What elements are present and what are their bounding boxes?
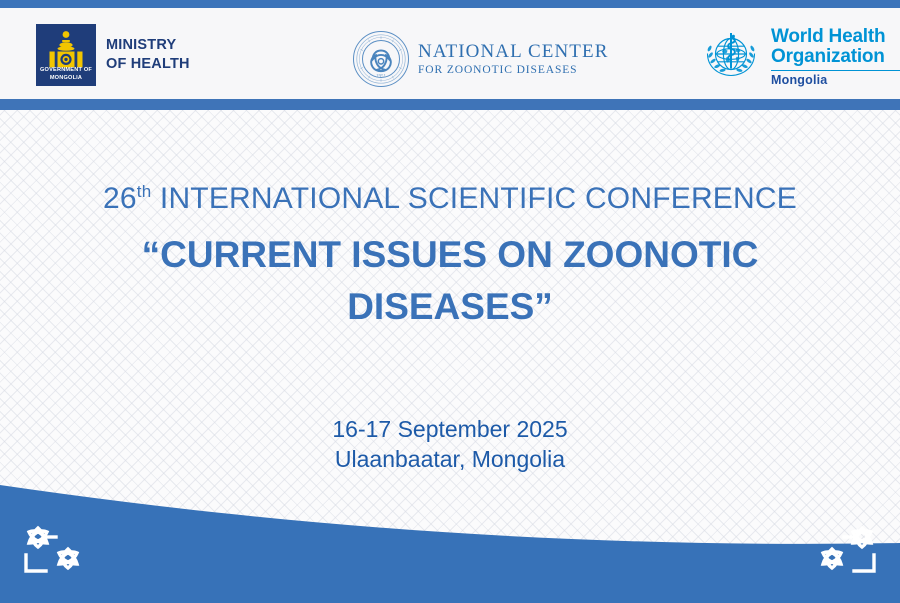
seal-year: 1951	[376, 75, 387, 80]
logo-world-health-organization: World Health Organization Mongolia	[700, 26, 900, 88]
top-accent-band	[0, 0, 900, 8]
footer-wave-fill	[0, 485, 900, 603]
emblem-caption: GOVERNMENT OF MONGOLIA	[36, 67, 96, 82]
conference-theme-line2: DISEASES”	[0, 281, 900, 333]
conference-heading: 26th INTERNATIONAL SCIENTIFIC CONFERENCE	[0, 172, 900, 219]
logo-row: GOVERNMENT OF MONGOLIA MINISTRY OF HEALT…	[0, 8, 900, 99]
ministry-label-line1: MINISTRY	[106, 36, 190, 55]
conference-title-slide: GOVERNMENT OF MONGOLIA MINISTRY OF HEALT…	[0, 0, 900, 603]
who-divider-rule	[771, 70, 900, 72]
nczd-label-line2: FOR ZOONOTIC DISEASES	[418, 64, 608, 76]
nczd-label-line1: NATIONAL CENTER	[418, 42, 608, 62]
title-block: 26th INTERNATIONAL SCIENTIFIC CONFERENCE…	[0, 172, 900, 333]
who-label-line2: Organization	[771, 47, 900, 67]
logo-ministry-of-health: GOVERNMENT OF MONGOLIA MINISTRY OF HEALT…	[36, 24, 190, 86]
logo-national-center-zoonotic-diseases: 1951 NATIONAL CENTER FOR ZOONOTIC DISEAS…	[352, 30, 608, 88]
who-country-label: Mongolia	[771, 73, 900, 87]
conference-ordinal: 26	[103, 182, 137, 215]
who-label: World Health Organization Mongolia	[771, 27, 900, 88]
ministry-of-health-label: MINISTRY OF HEALTH	[106, 36, 190, 74]
who-label-line1: World Health	[771, 27, 900, 47]
conference-heading-text: INTERNATIONAL SCIENTIFIC CONFERENCE	[151, 182, 797, 215]
emblem-caption-line1: GOVERNMENT OF	[36, 67, 96, 75]
conference-theme: “CURRENT ISSUES ON ZOONOTIC DISEASES”	[0, 229, 900, 333]
who-emblem-icon	[700, 26, 762, 88]
footer-wave-decoration	[0, 463, 900, 603]
conference-theme-line1: “CURRENT ISSUES ON ZOONOTIC	[0, 229, 900, 281]
emblem-caption-line2: MONGOLIA	[36, 75, 96, 83]
mongolia-state-emblem-icon: GOVERNMENT OF MONGOLIA	[36, 24, 96, 86]
conference-ordinal-suffix: th	[137, 182, 152, 201]
mongolian-knot-ornament-right-icon	[804, 519, 884, 581]
event-dates: 16-17 September 2025	[0, 414, 900, 444]
ministry-label-line2: OF HEALTH	[106, 55, 190, 74]
header-divider-bar	[0, 99, 900, 110]
nczd-biohazard-seal-icon: 1951	[352, 30, 410, 88]
mongolian-knot-ornament-left-icon	[16, 519, 96, 581]
soyombo-icon	[36, 28, 96, 72]
nczd-label: NATIONAL CENTER FOR ZOONOTIC DISEASES	[418, 42, 608, 76]
